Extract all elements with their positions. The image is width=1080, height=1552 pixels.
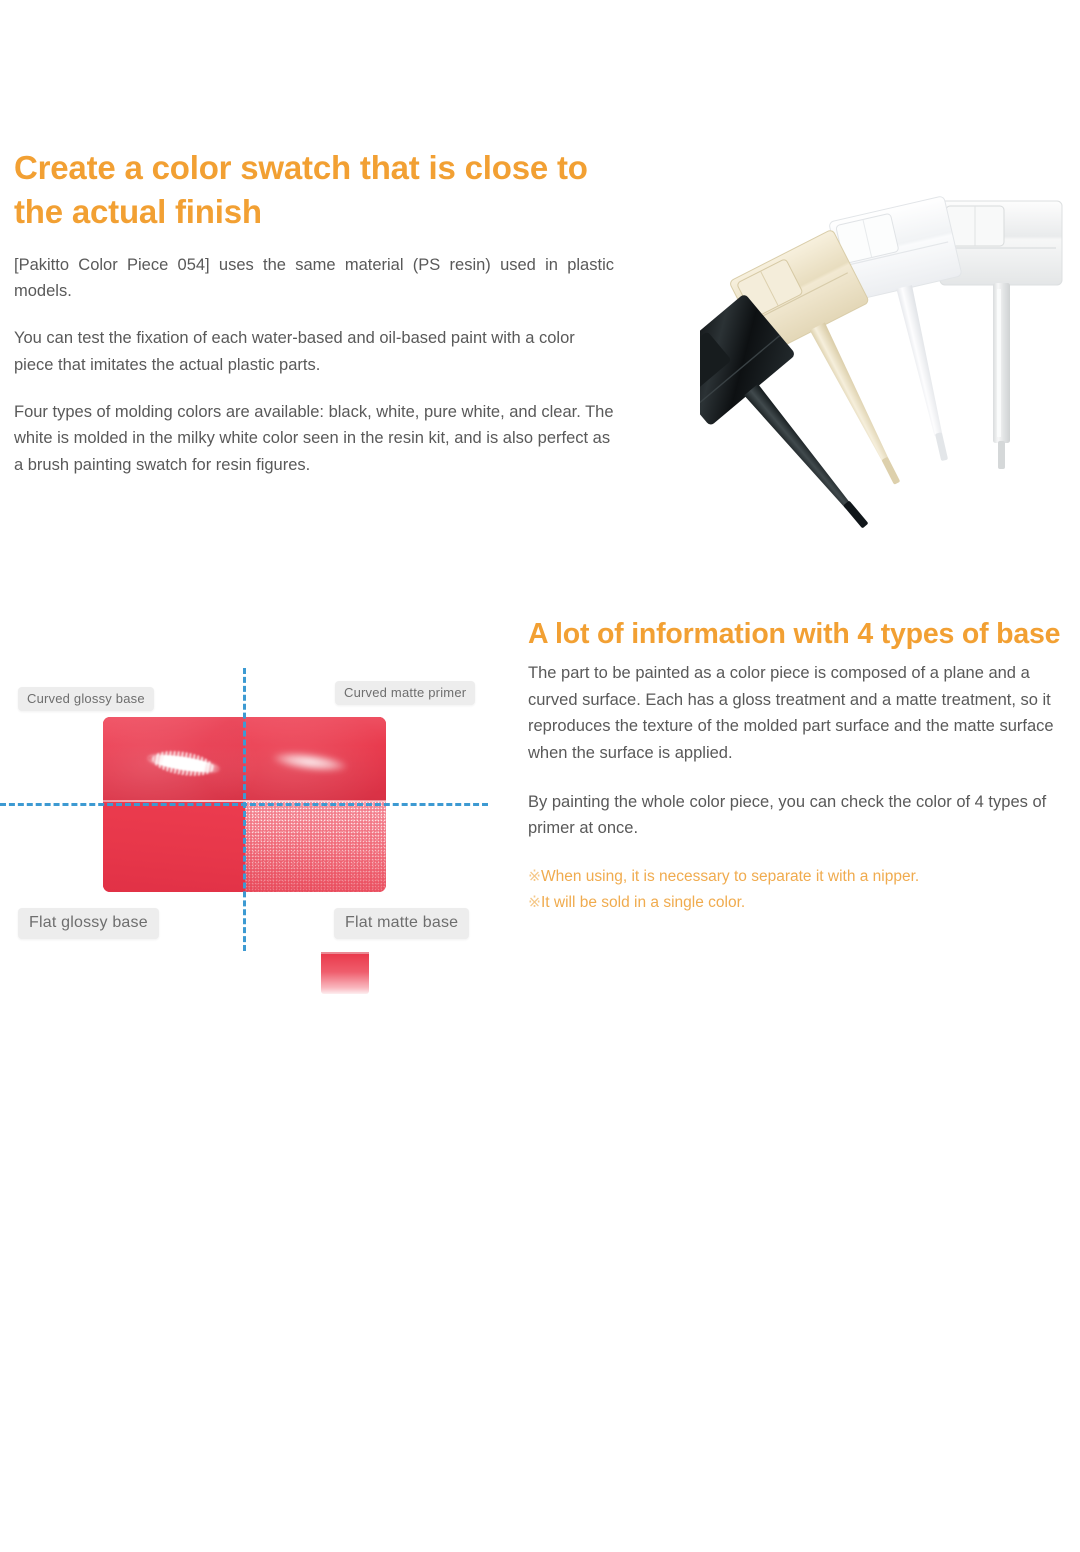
reference-mark-icon: ※ (528, 894, 541, 911)
top-section-text: Create a color swatch that is close to t… (14, 146, 614, 479)
top-section-heading: Create a color swatch that is close to t… (14, 146, 614, 234)
top-section-paragraph-3: Four types of molding colors are availab… (14, 399, 614, 479)
label-flat-matte-base: Flat matte base (334, 908, 469, 939)
matte-speckle-texture (245, 801, 387, 892)
bottom-section-paragraph-1: The part to be painted as a color piece … (528, 660, 1076, 767)
piece-clear (940, 201, 1062, 469)
color-piece-fan-photo (700, 185, 1080, 555)
label-curved-matte-primer: Curved matte primer (335, 681, 475, 705)
bottom-section-heading: A lot of information with 4 types of bas… (528, 616, 1076, 654)
label-flat-glossy-base: Flat glossy base (18, 908, 159, 939)
four-base-swatch-diagram: Curved glossy base Curved matte primer F… (0, 655, 500, 955)
note-line-1: ※When using, it is necessary to separate… (528, 864, 1076, 890)
top-section-paragraph-2: You can test the fixation of each water-… (14, 325, 614, 378)
vertical-guide-line (243, 668, 246, 951)
bottom-section-notes: ※When using, it is necessary to separate… (528, 864, 1076, 916)
bottom-section-paragraph-2: By painting the whole color piece, you c… (528, 789, 1076, 842)
page-root: Create a color swatch that is close to t… (0, 0, 1080, 1080)
label-curved-glossy-base: Curved glossy base (18, 687, 154, 711)
bottom-section-text: A lot of information with 4 types of bas… (528, 616, 1076, 916)
top-section-paragraph-1: [Pakitto Color Piece 054] uses the same … (14, 252, 614, 305)
reference-mark-icon: ※ (528, 868, 541, 885)
note-text-2: It will be sold in a single color. (541, 894, 745, 911)
note-line-2: ※It will be sold in a single color. (528, 890, 1076, 916)
quadrant-flat-glossy (103, 801, 245, 892)
sprue-gate-tab (321, 954, 369, 994)
note-text-1: When using, it is necessary to separate … (541, 868, 919, 885)
